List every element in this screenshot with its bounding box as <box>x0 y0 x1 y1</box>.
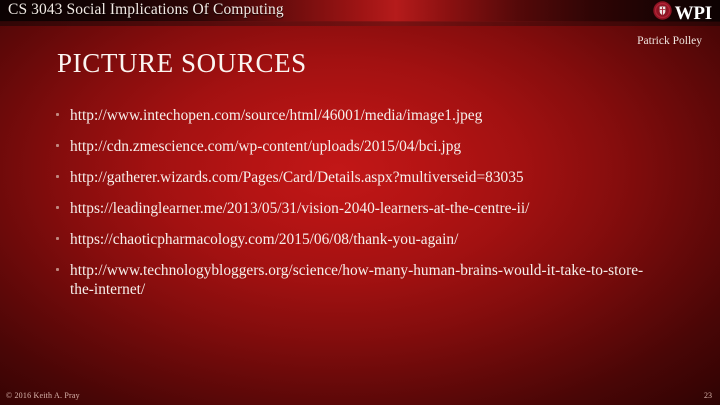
course-title: CS 3043 Social Implications Of Computing <box>8 1 284 19</box>
square-bullet-icon <box>56 168 70 178</box>
square-bullet-icon <box>56 261 70 271</box>
slide-number: 23 <box>704 391 712 400</box>
list-item: http://cdn.zmescience.com/wp-content/upl… <box>56 137 666 156</box>
source-url: http://cdn.zmescience.com/wp-content/upl… <box>70 137 666 156</box>
source-list: http://www.intechopen.com/source/html/46… <box>56 106 666 311</box>
presenter-name: Patrick Polley <box>637 35 702 47</box>
square-bullet-icon <box>56 230 70 240</box>
source-url: http://www.intechopen.com/source/html/46… <box>70 106 666 125</box>
header-underline <box>0 22 720 26</box>
list-item: https://leadinglearner.me/2013/05/31/vis… <box>56 199 666 218</box>
square-bullet-icon <box>56 106 70 116</box>
presentation-slide: CS 3043 Social Implications Of Computing… <box>0 0 720 405</box>
list-item: http://gatherer.wizards.com/Pages/Card/D… <box>56 168 666 187</box>
source-url: https://chaoticpharmacology.com/2015/06/… <box>70 230 666 249</box>
source-url: https://leadinglearner.me/2013/05/31/vis… <box>70 199 666 218</box>
page-title: PICTURE SOURCES <box>57 48 307 79</box>
list-item: http://www.technologybloggers.org/scienc… <box>56 261 666 299</box>
copyright-notice: © 2016 Keith A. Pray <box>6 391 80 400</box>
square-bullet-icon <box>56 199 70 209</box>
slide-header-band: CS 3043 Social Implications Of Computing… <box>0 0 720 22</box>
square-bullet-icon <box>56 137 70 147</box>
list-item: https://chaoticpharmacology.com/2015/06/… <box>56 230 666 249</box>
list-item: http://www.intechopen.com/source/html/46… <box>56 106 666 125</box>
source-url: http://gatherer.wizards.com/Pages/Card/D… <box>70 168 666 187</box>
wpi-wordmark: WPI <box>675 4 712 23</box>
source-url: http://www.technologybloggers.org/scienc… <box>70 261 666 299</box>
